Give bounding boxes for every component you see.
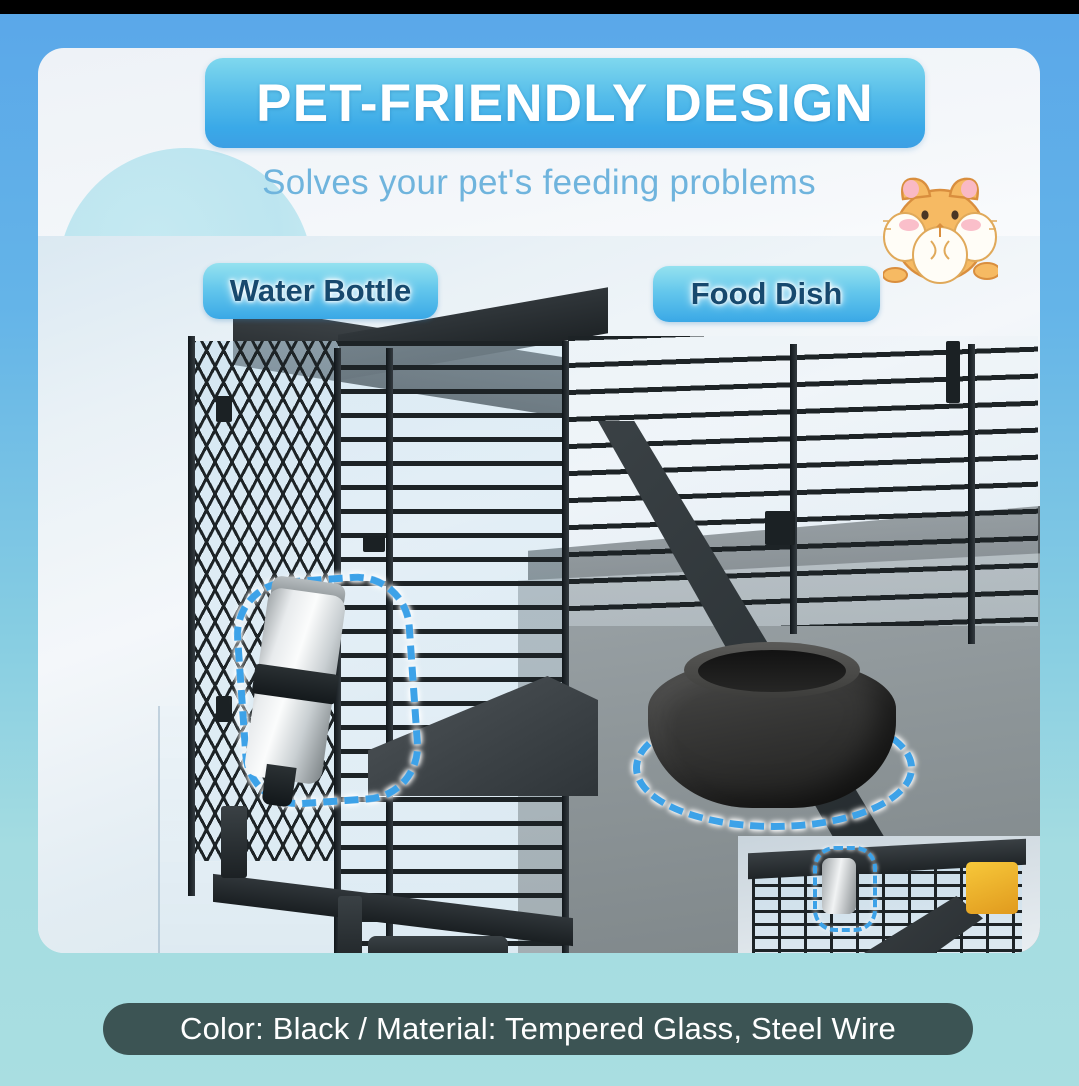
caption-bar: Color: Black / Material: Tempered Glass,… [103, 1003, 973, 1055]
content-card: PET-FRIENDLY DESIGN Solves your pet's fe… [38, 48, 1040, 953]
cage-post [562, 341, 569, 953]
page-title: PET-FRIENDLY DESIGN [256, 73, 874, 134]
hamster-mascot-icon [883, 163, 998, 288]
cage-leg [221, 806, 247, 878]
cage-leg [338, 896, 362, 953]
cage-post [790, 344, 797, 634]
inset-hideout-house [966, 862, 1018, 914]
product-photo [38, 236, 1040, 953]
cage-leg [368, 936, 508, 953]
cage-post [968, 344, 975, 644]
label-water-bottle-text: Water Bottle [230, 273, 411, 309]
cage-clip [363, 536, 385, 552]
cage-post [188, 336, 195, 896]
cage-clip [216, 696, 232, 722]
inset-water-bottle-icon [822, 858, 856, 914]
caption-text: Color: Black / Material: Tempered Glass,… [180, 1011, 896, 1047]
food-dish-icon [648, 636, 896, 821]
cage-clip [765, 511, 795, 545]
product-poster: PET-FRIENDLY DESIGN Solves your pet's fe… [0, 0, 1079, 1086]
dish-inner [698, 650, 846, 692]
label-food-dish-text: Food Dish [691, 276, 843, 312]
title-banner: PET-FRIENDLY DESIGN [205, 58, 925, 148]
full-cage-inset-photo [738, 836, 1040, 953]
bottle-nozzle [261, 764, 296, 808]
cage-clip [216, 396, 232, 422]
cage-clip [946, 341, 960, 403]
label-water-bottle: Water Bottle [203, 263, 438, 319]
label-food-dish: Food Dish [653, 266, 880, 322]
top-black-strip [0, 0, 1079, 14]
